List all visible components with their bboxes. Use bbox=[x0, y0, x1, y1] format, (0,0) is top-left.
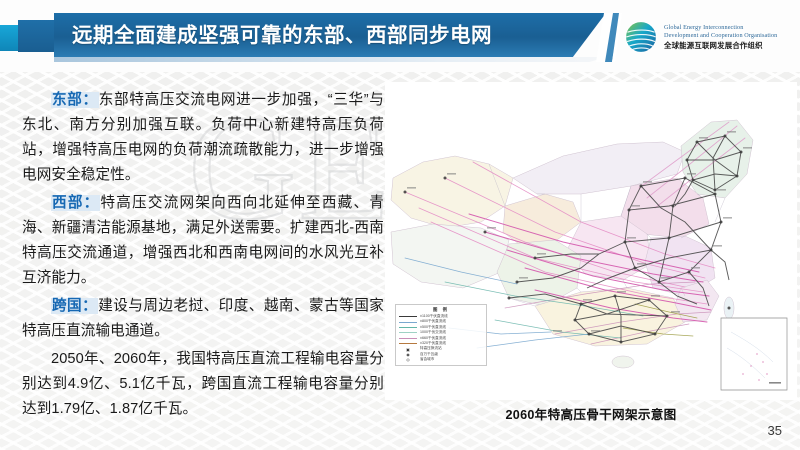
legend-symbol-icon: ◉ bbox=[399, 352, 417, 357]
paragraph-west-lead: 西部： bbox=[51, 195, 100, 211]
legend-item-label: 省会城市 bbox=[420, 357, 434, 362]
organization-logo: Global Energy Interconnection Developmen… bbox=[624, 14, 796, 60]
paragraph-east: 东部：东部特高压交流电网进一步加强，“三华”与东北、南方分别加强互联。负荷中心新… bbox=[22, 88, 384, 188]
globe-logo-icon bbox=[624, 20, 658, 54]
paragraph-west: 西部：特高压交流网架向西向北延伸至西藏、青海、新疆清洁能源基地，满足外送需要。扩… bbox=[22, 191, 384, 291]
slide-header: 远期全面建成坚强可靠的东部、西部同步电网 bbox=[0, 0, 800, 72]
legend-line-swatch bbox=[399, 316, 417, 317]
logo-text-group: Global Energy Interconnection Developmen… bbox=[664, 24, 777, 51]
accent-block-blue bbox=[18, 20, 57, 52]
paragraph-transnational: 跨国：建设与周边老挝、印度、越南、蒙古等国家特高压直流输电通道。 bbox=[22, 294, 384, 344]
logo-en-line-2: Development and Cooperation Organisation bbox=[664, 32, 777, 40]
logo-en-line-1: Global Energy Interconnection bbox=[664, 24, 777, 32]
map-caption: 2060年特高压骨干网架示意图 bbox=[385, 404, 797, 423]
map-legend-title: 图 例 bbox=[399, 307, 483, 313]
legend-line-swatch bbox=[399, 338, 417, 339]
paragraph-capacity: 2050年、2060年，我国特高压直流工程输电容量分别达到4.9亿、5.1亿千瓦… bbox=[22, 347, 384, 422]
map-legend-item: ◎省会城市 bbox=[399, 357, 483, 362]
legend-symbol-icon: ◎ bbox=[399, 357, 417, 362]
legend-line-swatch bbox=[399, 343, 417, 344]
legend-line-swatch bbox=[399, 332, 417, 333]
chevron-stripe-icon bbox=[596, 13, 622, 62]
legend-line-swatch bbox=[399, 327, 417, 328]
paragraph-east-lead: 东部： bbox=[51, 92, 99, 108]
slide-root: GEIDCO 远期全面建成坚强可靠的东部、西部同步电网 bbox=[0, 0, 800, 450]
page-number: 35 bbox=[768, 423, 782, 438]
legend-line-swatch bbox=[399, 322, 417, 323]
paragraph-capacity-text: 2050年、2060年，我国特高压直流工程输电容量分别达到4.9亿、5.1亿千瓦… bbox=[22, 351, 384, 417]
map-legend: 图 例 ±1100千伏直流线±800千伏直流线±500千伏直流线1000千伏交流… bbox=[395, 304, 487, 366]
page-title: 远期全面建成坚强可靠的东部、西部同步电网 bbox=[72, 18, 572, 48]
map-inset-south-china-sea bbox=[721, 318, 787, 390]
logo-cn-line: 全球能源互联网发展合作组织 bbox=[664, 40, 777, 51]
paragraph-transnational-lead: 跨国： bbox=[51, 298, 98, 314]
body-text-column: 东部：东部特高压交流电网进一步加强，“三华”与东北、南方分别加强互联。负荷中心新… bbox=[22, 88, 384, 422]
legend-symbol-icon: ▣ bbox=[399, 347, 417, 352]
map-legend-rows: ±1100千伏直流线±800千伏直流线±500千伏直流线1000千伏交流线±66… bbox=[399, 314, 483, 363]
title-bar-underline bbox=[54, 57, 606, 62]
china-grid-map: 图 例 ±1100千伏直流线±800千伏直流线±500千伏直流线1000千伏交流… bbox=[385, 82, 797, 400]
